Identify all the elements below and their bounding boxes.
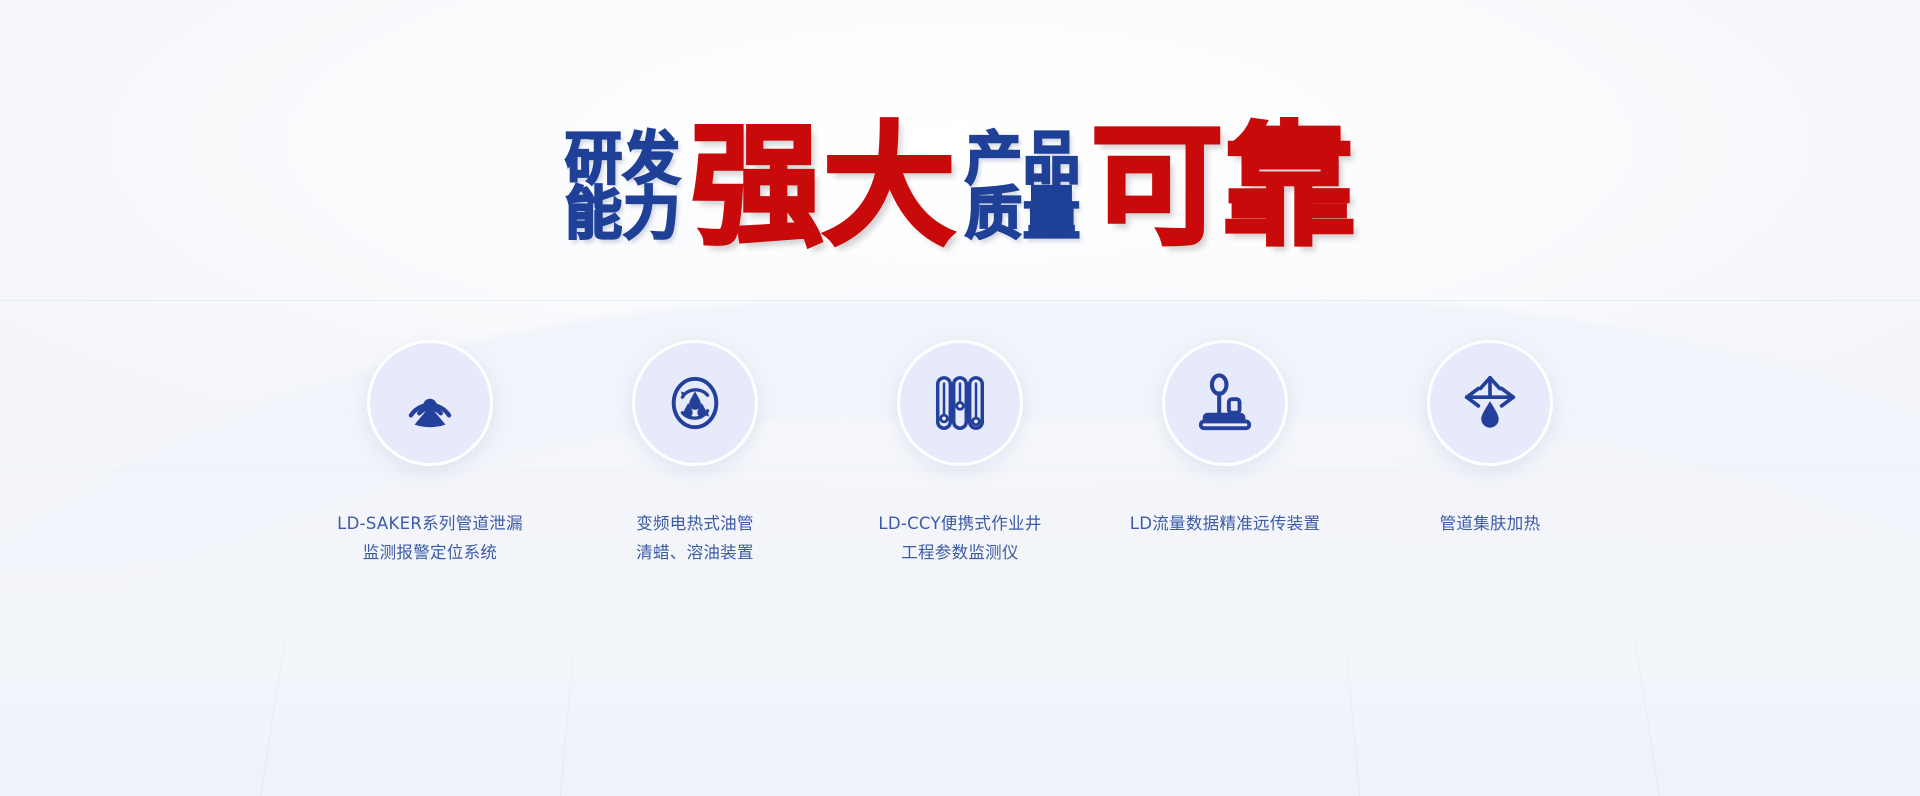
feature-item-skin-heating[interactable]: 管道集肤加热 <box>1365 340 1615 568</box>
joystick-control-icon <box>1194 372 1256 434</box>
heating-arrow-droplet-icon <box>1459 372 1521 434</box>
feature-icon-circle <box>632 340 758 466</box>
headline-group-rd: 研发 能力 <box>565 132 681 241</box>
feature-row: LD-SAKER系列管道泄漏 监测报警定位系统 变频电热式油管 清蜡、溶油装置 <box>305 340 1615 568</box>
water-droplet-cycle-icon <box>664 372 726 434</box>
feature-item-flow-telemetry[interactable]: LD流量数据精准远传装置 <box>1100 340 1350 568</box>
feature-label: LD-CCY便携式作业井 工程参数监测仪 <box>878 510 1041 568</box>
feature-icon-circle <box>1427 340 1553 466</box>
feature-icon-circle <box>1162 340 1288 466</box>
feature-label: LD-SAKER系列管道泄漏 监测报警定位系统 <box>337 510 523 568</box>
feature-item-leak-monitoring[interactable]: LD-SAKER系列管道泄漏 监测报警定位系统 <box>305 340 555 568</box>
signal-broadcast-icon <box>397 370 463 436</box>
headline: 研发 能力 强大 产品 质量 可靠 <box>0 112 1920 262</box>
feature-label: 管道集肤加热 <box>1440 510 1541 539</box>
feature-icon-circle <box>367 340 493 466</box>
feature-item-dewaxing[interactable]: 变频电热式油管 清蜡、溶油装置 <box>570 340 820 568</box>
banner-stage: 研发 能力 强大 产品 质量 可靠 LD-SAKER系 <box>0 0 1920 796</box>
background-horizon-line <box>0 300 1920 301</box>
headline-qiangda: 强大 <box>691 121 955 253</box>
headline-line-nengli: 能力 <box>565 187 681 242</box>
headline-group-quality: 产品 质量 <box>965 132 1081 241</box>
three-sliders-icon <box>929 372 991 434</box>
headline-line-chanpin: 产品 <box>965 132 1081 187</box>
feature-label: LD流量数据精准远传装置 <box>1130 510 1321 539</box>
headline-line-yanfa: 研发 <box>565 132 681 187</box>
headline-line-zhiliang: 质量 <box>965 187 1081 242</box>
feature-icon-circle <box>897 340 1023 466</box>
feature-item-parameter-monitor[interactable]: LD-CCY便携式作业井 工程参数监测仪 <box>835 340 1085 568</box>
headline-kekao: 可靠 <box>1091 121 1355 253</box>
feature-label: 变频电热式油管 清蜡、溶油装置 <box>636 510 754 568</box>
